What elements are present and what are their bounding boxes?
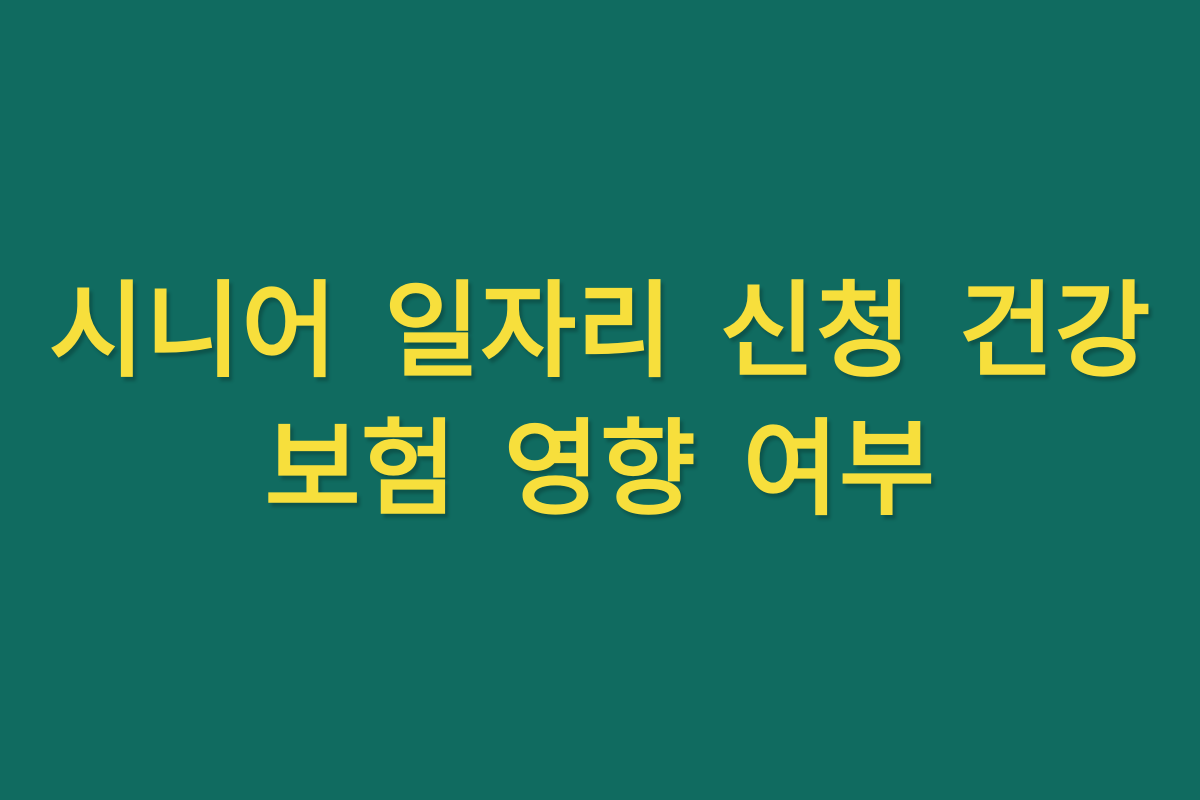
headline-line-1: 시니어 일자리 신청 건강 — [0, 263, 1200, 399]
headline-line-2: 보험 영향 여부 — [0, 401, 1200, 537]
banner-headline: 시니어 일자리 신청 건강 보험 영향 여부 — [0, 263, 1200, 537]
banner-background: 시니어 일자리 신청 건강 보험 영향 여부 — [0, 0, 1200, 800]
